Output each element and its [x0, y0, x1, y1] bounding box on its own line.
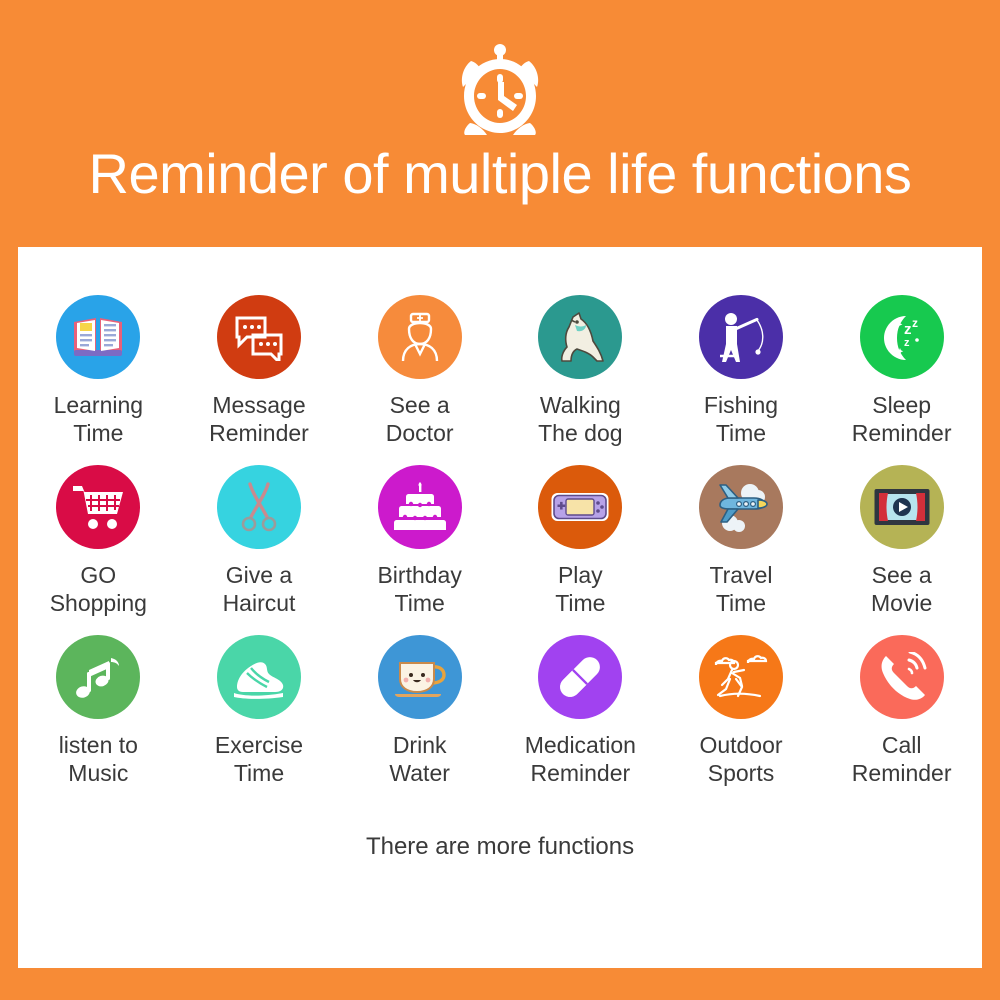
- birthday-cake-icon: [378, 465, 462, 549]
- function-item-listen-to-music[interactable]: listen to Music: [18, 635, 179, 787]
- moon-zzz-icon: z z z: [860, 295, 944, 379]
- phone-call-icon: [860, 635, 944, 719]
- shopping-cart-icon: [56, 465, 140, 549]
- function-item-sleep-reminder[interactable]: z z z Sleep Reminder: [821, 295, 982, 447]
- scissors-icon: [217, 465, 301, 549]
- page-title: Reminder of multiple life functions: [89, 142, 912, 206]
- function-label: GO Shopping: [50, 561, 147, 617]
- tea-cup-icon: [378, 635, 462, 719]
- nurse-icon: [378, 295, 462, 379]
- open-book-icon: [56, 295, 140, 379]
- functions-row: listen to Music Exercise Time: [18, 635, 982, 787]
- function-item-travel-time[interactable]: Travel Time: [661, 465, 822, 617]
- functions-row: GO Shopping Give a Haircu: [18, 465, 982, 617]
- function-label: Message Reminder: [209, 391, 309, 447]
- dog-icon: [538, 295, 622, 379]
- function-item-medication-reminder[interactable]: Medication Reminder: [500, 635, 661, 787]
- handheld-console-icon: [538, 465, 622, 549]
- svg-text:z: z: [904, 337, 910, 349]
- function-item-fishing-time[interactable]: Fishing Time: [661, 295, 822, 447]
- function-label: Walking The dog: [538, 391, 622, 447]
- functions-panel: Learning Time Message Rem: [18, 247, 982, 968]
- function-label: See a Doctor: [386, 391, 454, 447]
- function-item-see-a-doctor[interactable]: See a Doctor: [339, 295, 500, 447]
- pill-capsule-icon: [538, 635, 622, 719]
- function-label: Play Time: [555, 561, 605, 617]
- function-label: listen to Music: [59, 731, 138, 787]
- function-label: Travel Time: [709, 561, 772, 617]
- svg-text:z: z: [912, 316, 918, 330]
- movie-screen-icon: [860, 465, 944, 549]
- function-label: Call Reminder: [852, 731, 952, 787]
- function-item-outdoor-sports[interactable]: Outdoor Sports: [661, 635, 822, 787]
- functions-row: Learning Time Message Rem: [18, 295, 982, 447]
- function-label: Medication Reminder: [525, 731, 636, 787]
- sneaker-icon: [217, 635, 301, 719]
- function-label: Fishing Time: [704, 391, 778, 447]
- function-item-play-time[interactable]: Play Time: [500, 465, 661, 617]
- music-notes-icon: [56, 635, 140, 719]
- runner-icon: [699, 635, 783, 719]
- footer-note: There are more functions: [366, 833, 634, 861]
- function-item-give-a-haircut[interactable]: Give a Haircut: [179, 465, 340, 617]
- function-label: Learning Time: [54, 391, 144, 447]
- function-item-go-shopping[interactable]: GO Shopping: [18, 465, 179, 617]
- function-label: Birthday Time: [377, 561, 461, 617]
- function-item-drink-water[interactable]: Drink Water: [339, 635, 500, 787]
- function-label: Outdoor Sports: [699, 731, 782, 787]
- functions-grid: Learning Time Message Rem: [18, 247, 982, 787]
- function-label: See a Movie: [871, 561, 932, 617]
- svg-text:z: z: [904, 321, 912, 338]
- function-item-learning-time[interactable]: Learning Time: [18, 295, 179, 447]
- chat-bubbles-icon: [217, 295, 301, 379]
- function-item-exercise-time[interactable]: Exercise Time: [179, 635, 340, 787]
- function-label: Give a Haircut: [223, 561, 296, 617]
- function-item-walking-the-dog[interactable]: Walking The dog: [500, 295, 661, 447]
- function-label: Sleep Reminder: [852, 391, 952, 447]
- function-label: Exercise Time: [215, 731, 303, 787]
- page-header: Reminder of multiple life functions: [0, 0, 1000, 247]
- function-item-message-reminder[interactable]: Message Reminder: [179, 295, 340, 447]
- function-item-see-a-movie[interactable]: See a Movie: [821, 465, 982, 617]
- function-label: Drink Water: [389, 731, 450, 787]
- fishing-icon: [699, 295, 783, 379]
- function-item-birthday-time[interactable]: Birthday Time: [339, 465, 500, 617]
- function-item-call-reminder[interactable]: Call Reminder: [821, 635, 982, 787]
- alarm-clock-icon: [457, 40, 543, 136]
- airplane-icon: [699, 465, 783, 549]
